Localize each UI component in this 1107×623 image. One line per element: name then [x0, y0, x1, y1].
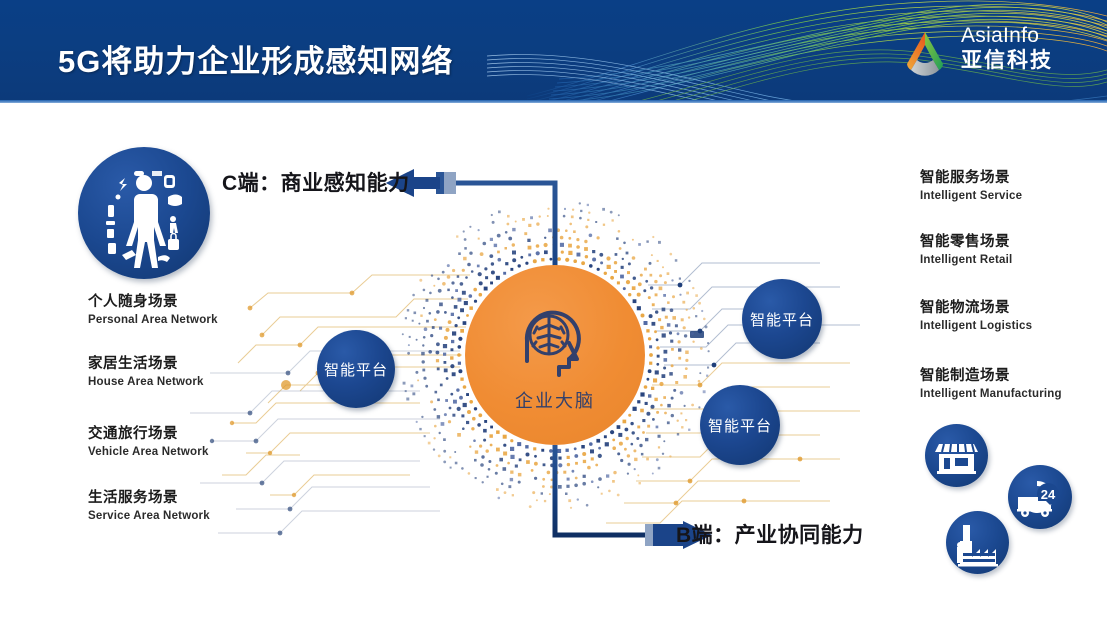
personal-wearables-circle[interactable]: [78, 147, 210, 279]
platform-circle-left[interactable]: 智能平台: [317, 330, 395, 408]
factory-icon: [946, 511, 1009, 574]
delivery-24h-circle[interactable]: 24: [1008, 465, 1072, 529]
business-flow-caption: B端：产业协同能力: [676, 519, 864, 549]
scenario-left-1-en: House Area Network: [88, 374, 204, 390]
scenario-right-1-en: Intelligent Retail: [920, 252, 1012, 268]
scenario-left-2-en: Vehicle Area Network: [88, 444, 209, 460]
consumer-flow-caption: C端：商业感知能力: [222, 167, 410, 197]
brand-logo: AsiaInfo 亚信科技: [897, 22, 1087, 84]
scenario-right-3: 智能制造场景 Intelligent Manufacturing: [920, 367, 1062, 402]
scenario-right-2-en: Intelligent Logistics: [920, 318, 1032, 334]
slide-root: 5G将助力企业形成感知网络: [0, 0, 1107, 623]
scenario-left-3: 生活服务场景 Service Area Network: [88, 489, 210, 524]
scenario-left-2: 交通旅行场景 Vehicle Area Network: [88, 425, 209, 460]
head-brain-icon: [507, 297, 603, 383]
platform-circle-top-right[interactable]: 智能平台: [742, 279, 822, 359]
scenario-right-0-cn: 智能服务场景: [920, 169, 1022, 188]
scenario-left-0: 个人随身场景 Personal Area Network: [88, 293, 218, 328]
scenario-right-0-en: Intelligent Service: [920, 188, 1022, 204]
brand-name-en: AsiaInfo: [961, 24, 1087, 48]
page-title: 5G将助力企业形成感知网络: [58, 36, 453, 81]
scenario-left-0-cn: 个人随身场景: [88, 293, 218, 312]
brand-text: AsiaInfo 亚信科技: [961, 24, 1087, 74]
asiainfo-ring-icon: [897, 26, 953, 82]
brand-name-cn: 亚信科技: [961, 48, 1087, 74]
platform-circle-bottom-right[interactable]: 智能平台: [700, 385, 780, 465]
scenario-right-2-cn: 智能物流场景: [920, 299, 1032, 318]
factory-circle[interactable]: [946, 511, 1009, 574]
scenario-left-3-cn: 生活服务场景: [88, 489, 210, 508]
slide-header: 5G将助力企业形成感知网络: [0, 0, 1107, 103]
scenario-right-3-cn: 智能制造场景: [920, 367, 1062, 386]
scenario-right-1: 智能零售场景 Intelligent Retail: [920, 233, 1012, 268]
scenario-right-3-en: Intelligent Manufacturing: [920, 386, 1062, 402]
scenario-left-3-en: Service Area Network: [88, 508, 210, 524]
svg-text:24: 24: [1041, 487, 1056, 502]
body-wearables-icon: [78, 147, 210, 279]
scenario-right-2: 智能物流场景 Intelligent Logistics: [920, 299, 1032, 334]
platform-circle-bottom-right-label: 智能平台: [708, 415, 772, 436]
storefront-circle[interactable]: [925, 424, 988, 487]
scenario-right-0: 智能服务场景 Intelligent Service: [920, 169, 1022, 204]
scenario-left-1-cn: 家居生活场景: [88, 355, 204, 374]
scenario-right-1-cn: 智能零售场景: [920, 233, 1012, 252]
scenario-left-2-cn: 交通旅行场景: [88, 425, 209, 444]
scenario-left-0-en: Personal Area Network: [88, 312, 218, 328]
delivery-truck-24h-icon: 24: [1008, 465, 1072, 529]
enterprise-brain-label: 企业大脑: [515, 387, 595, 413]
enterprise-brain-core[interactable]: 企业大脑: [465, 265, 645, 445]
storefront-icon: [925, 424, 988, 487]
platform-circle-top-right-label: 智能平台: [750, 309, 814, 330]
scenario-left-1: 家居生活场景 House Area Network: [88, 355, 204, 390]
diagram-canvas: 个人随身场景 Personal Area Network 家居生活场景 Hous…: [0, 103, 1107, 623]
platform-circle-left-label: 智能平台: [324, 359, 388, 380]
